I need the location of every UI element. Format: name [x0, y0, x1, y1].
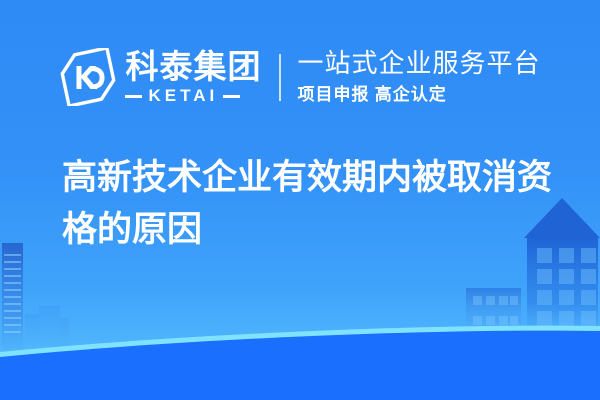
brand-name-en: KETAI	[142, 87, 223, 105]
tagline-sub: 项目申报 高企认定	[297, 84, 540, 106]
brand-name-en-row: KETAI	[125, 87, 261, 105]
brand-wordmark: 科泰集团 KETAI	[125, 46, 261, 108]
ground-area	[0, 331, 600, 400]
building-left-tower	[2, 243, 23, 355]
brand-name-cn: 科泰集团	[125, 49, 261, 85]
page-title: 高新技术企业有效期内被取消资 格的原因	[62, 152, 554, 256]
dash-right-icon	[223, 95, 240, 98]
tagline-main: 一站式企业服务平台	[297, 49, 540, 79]
banner-header: 科泰集团 KETAI 一站式企业服务平台 项目申报 高企认定	[0, 38, 600, 116]
ketai-diamond-kd-logo-icon	[59, 48, 117, 106]
page-title-line-1: 高新技术企业有效期内被取消资	[62, 152, 554, 204]
header-tagline: 一站式企业服务平台 项目申报 高企认定	[297, 46, 540, 108]
article-banner: 科泰集团 KETAI 一站式企业服务平台 项目申报 高企认定 高新技术企业有效期…	[0, 0, 600, 400]
page-title-line-2: 格的原因	[62, 204, 554, 256]
header-divider	[279, 54, 281, 101]
dash-left-icon	[125, 95, 142, 98]
brand-logo[interactable]: 科泰集团 KETAI	[59, 38, 261, 116]
